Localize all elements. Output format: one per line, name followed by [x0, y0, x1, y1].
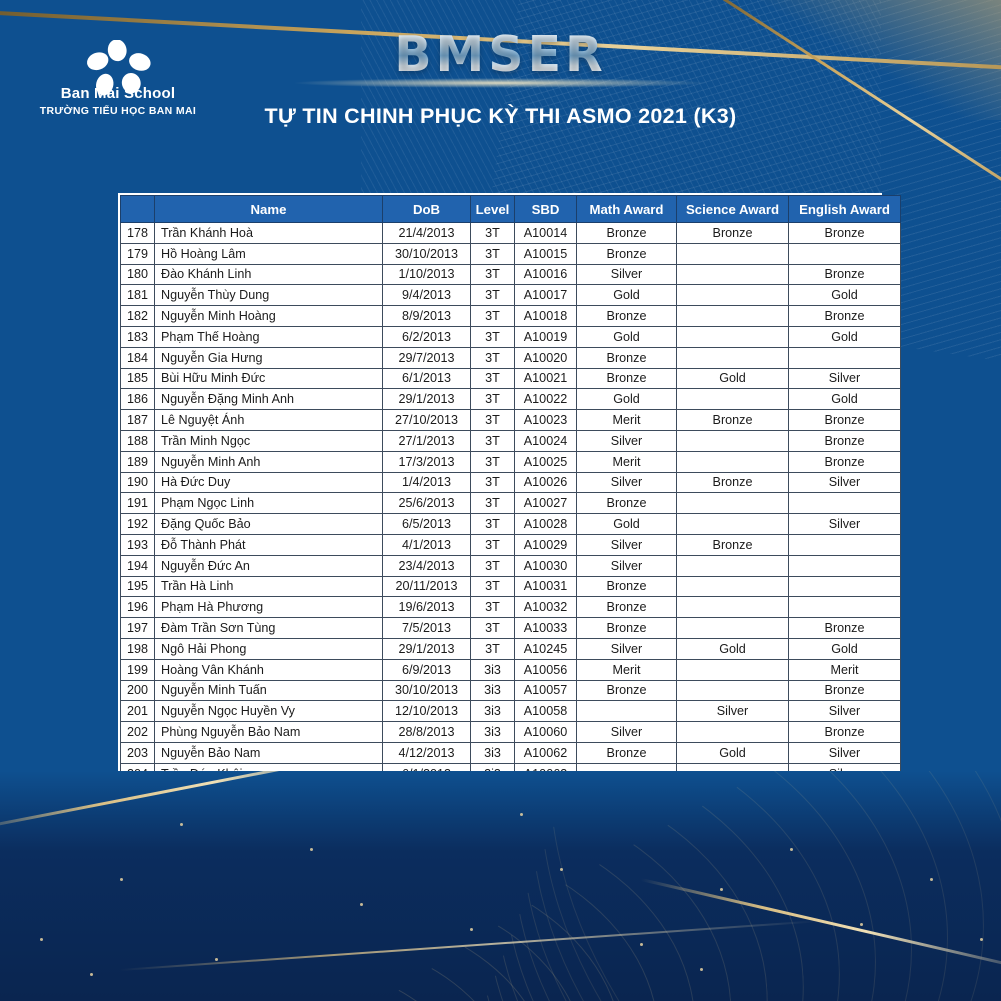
row-index: 190: [121, 472, 155, 493]
row-name: Đào Khánh Linh: [155, 264, 383, 285]
row-name: Nguyễn Minh Hoàng: [155, 306, 383, 327]
row-english-award: [789, 243, 901, 264]
sparkle-dot: [720, 888, 723, 891]
row-level: 3T: [471, 223, 515, 244]
row-english-award: Silver: [789, 742, 901, 763]
row-math-award: Bronze: [577, 347, 677, 368]
row-dob: 1/10/2013: [383, 264, 471, 285]
row-level: 3T: [471, 555, 515, 576]
row-index: 184: [121, 347, 155, 368]
row-level: 3T: [471, 347, 515, 368]
row-level: 3i3: [471, 680, 515, 701]
table-row[interactable]: 203Nguyễn Bảo Nam4/12/20133i3A10062Bronz…: [121, 742, 901, 763]
row-sbd: A10032: [515, 597, 577, 618]
row-english-award: Gold: [789, 285, 901, 306]
row-index: 191: [121, 493, 155, 514]
row-math-award: Silver: [577, 430, 677, 451]
row-sbd: A10024: [515, 430, 577, 451]
table-row[interactable]: 202Phùng Nguyễn Bảo Nam28/8/20133i3A1006…: [121, 722, 901, 743]
row-name: Đỗ Thành Phát: [155, 534, 383, 555]
table-row[interactable]: 183Phạm Thế Hoàng6/2/20133TA10019GoldGol…: [121, 326, 901, 347]
row-english-award: Bronze: [789, 306, 901, 327]
sparkle-dot: [90, 973, 93, 976]
row-level: 3i3: [471, 701, 515, 722]
row-math-award: Bronze: [577, 742, 677, 763]
row-science-award: [677, 659, 789, 680]
row-dob: 12/10/2013: [383, 701, 471, 722]
brand-title: BMSER: [394, 26, 607, 83]
row-index: 187: [121, 410, 155, 431]
row-level: 3T: [471, 389, 515, 410]
row-sbd: A10020: [515, 347, 577, 368]
row-level: 3T: [471, 534, 515, 555]
table-row[interactable]: 178Trần Khánh Hoà21/4/20133TA10014Bronze…: [121, 223, 901, 244]
row-math-award: Bronze: [577, 243, 677, 264]
row-dob: 30/10/2013: [383, 243, 471, 264]
row-science-award: [677, 555, 789, 576]
row-sbd: A10017: [515, 285, 577, 306]
column-header-index[interactable]: [121, 196, 155, 223]
row-sbd: A10056: [515, 659, 577, 680]
row-english-award: Bronze: [789, 430, 901, 451]
table-row[interactable]: 194Nguyễn Đức An23/4/20133TA10030Silver: [121, 555, 901, 576]
row-science-award: Bronze: [677, 410, 789, 431]
sparkle-dot: [640, 943, 643, 946]
row-sbd: A10062: [515, 742, 577, 763]
row-dob: 6/5/2013: [383, 514, 471, 535]
sparkle-dot: [980, 938, 983, 941]
row-math-award: Bronze: [577, 618, 677, 639]
brand-title-wrap: BMSER: [0, 26, 1001, 83]
column-header-math-award[interactable]: Math Award: [577, 196, 677, 223]
row-dob: 19/6/2013: [383, 597, 471, 618]
row-name: Hồ Hoàng Lâm: [155, 243, 383, 264]
table-row[interactable]: 199Hoàng Vân Khánh6/9/20133i3A10056Merit…: [121, 659, 901, 680]
row-name: Trần Minh Ngọc: [155, 430, 383, 451]
table-row[interactable]: 190Hà Đức Duy1/4/20133TA10026SilverBronz…: [121, 472, 901, 493]
row-name: Nguyễn Minh Tuấn: [155, 680, 383, 701]
table-row[interactable]: 201Nguyễn Ngọc Huyền Vy12/10/20133i3A100…: [121, 701, 901, 722]
row-science-award: [677, 306, 789, 327]
row-english-award: [789, 555, 901, 576]
row-english-award: [789, 597, 901, 618]
row-index: 182: [121, 306, 155, 327]
row-level: 3T: [471, 493, 515, 514]
row-sbd: A10027: [515, 493, 577, 514]
row-math-award: Bronze: [577, 576, 677, 597]
row-name: Nguyễn Đức An: [155, 555, 383, 576]
sparkle-dot: [120, 878, 123, 881]
column-header-level[interactable]: Level: [471, 196, 515, 223]
row-name: Nguyễn Ngọc Huyền Vy: [155, 701, 383, 722]
table-row[interactable]: 186Nguyễn Đặng Minh Anh29/1/20133TA10022…: [121, 389, 901, 410]
row-science-award: [677, 430, 789, 451]
column-header-dob[interactable]: DoB: [383, 196, 471, 223]
table-row[interactable]: 181Nguyễn Thùy Dung9/4/20133TA10017GoldG…: [121, 285, 901, 306]
row-index: 199: [121, 659, 155, 680]
row-sbd: A10014: [515, 223, 577, 244]
row-dob: 27/10/2013: [383, 410, 471, 431]
table-row[interactable]: 193Đỗ Thành Phát4/1/20133TA10029SilverBr…: [121, 534, 901, 555]
row-sbd: A10057: [515, 680, 577, 701]
row-level: 3T: [471, 430, 515, 451]
column-header-sbd[interactable]: SBD: [515, 196, 577, 223]
row-english-award: Silver: [789, 472, 901, 493]
row-dob: 1/4/2013: [383, 472, 471, 493]
row-dob: 27/1/2013: [383, 430, 471, 451]
row-name: Phùng Nguyễn Bảo Nam: [155, 722, 383, 743]
row-dob: 6/2/2013: [383, 326, 471, 347]
row-dob: 25/6/2013: [383, 493, 471, 514]
row-dob: 4/12/2013: [383, 742, 471, 763]
row-math-award: Silver: [577, 534, 677, 555]
row-sbd: A10026: [515, 472, 577, 493]
row-level: 3T: [471, 264, 515, 285]
row-index: 203: [121, 742, 155, 763]
row-science-award: [677, 243, 789, 264]
row-math-award: Merit: [577, 451, 677, 472]
row-index: 200: [121, 680, 155, 701]
row-dob: 4/1/2013: [383, 534, 471, 555]
logo-name: Ban Mai School: [28, 86, 208, 101]
table-row[interactable]: 187Lê Nguyệt Ánh27/10/20133TA10023MeritB…: [121, 410, 901, 431]
row-name: Bùi Hữu Minh Đức: [155, 368, 383, 389]
row-level: 3T: [471, 638, 515, 659]
row-english-award: Gold: [789, 326, 901, 347]
row-math-award: Bronze: [577, 368, 677, 389]
row-english-award: Bronze: [789, 223, 901, 244]
row-index: 181: [121, 285, 155, 306]
row-science-award: Silver: [677, 701, 789, 722]
sparkle-dot: [700, 968, 703, 971]
table-row[interactable]: 196Phạm Hà Phương19/6/20133TA10032Bronze: [121, 597, 901, 618]
row-science-award: Gold: [677, 742, 789, 763]
row-name: Nguyễn Bảo Nam: [155, 742, 383, 763]
row-science-award: [677, 514, 789, 535]
row-sbd: A10016: [515, 264, 577, 285]
sparkle-dot: [930, 878, 933, 881]
row-name: Ngô Hải Phong: [155, 638, 383, 659]
row-sbd: A10245: [515, 638, 577, 659]
row-math-award: Bronze: [577, 680, 677, 701]
row-science-award: [677, 597, 789, 618]
row-level: 3T: [471, 576, 515, 597]
row-sbd: A10029: [515, 534, 577, 555]
row-english-award: Bronze: [789, 618, 901, 639]
sparkle-dot: [860, 923, 863, 926]
row-english-award: Bronze: [789, 722, 901, 743]
row-index: 179: [121, 243, 155, 264]
row-sbd: A10023: [515, 410, 577, 431]
row-science-award: [677, 493, 789, 514]
row-dob: 20/11/2013: [383, 576, 471, 597]
table-row[interactable]: 184Nguyễn Gia Hưng29/7/20133TA10020Bronz…: [121, 347, 901, 368]
row-math-award: [577, 701, 677, 722]
row-dob: 29/1/2013: [383, 389, 471, 410]
row-math-award: Silver: [577, 472, 677, 493]
row-index: 189: [121, 451, 155, 472]
row-sbd: A10018: [515, 306, 577, 327]
row-dob: 8/9/2013: [383, 306, 471, 327]
row-math-award: Bronze: [577, 597, 677, 618]
poster-header: Ban Mai School TRƯỜNG TIỂU HỌC BAN MAI B…: [0, 0, 1001, 180]
row-english-award: Gold: [789, 389, 901, 410]
row-sbd: A10030: [515, 555, 577, 576]
table-row[interactable]: 185Bùi Hữu Minh Đức6/1/20133TA10021Bronz…: [121, 368, 901, 389]
row-index: 201: [121, 701, 155, 722]
row-level: 3T: [471, 285, 515, 306]
row-level: 3T: [471, 514, 515, 535]
table-row[interactable]: 182Nguyễn Minh Hoàng8/9/20133TA10018Bron…: [121, 306, 901, 327]
row-index: 202: [121, 722, 155, 743]
row-dob: 17/3/2013: [383, 451, 471, 472]
row-level: 3T: [471, 618, 515, 639]
column-header-science-award[interactable]: Science Award: [677, 196, 789, 223]
table-head: Name DoB Level SBD Math Award Science Aw…: [121, 196, 901, 223]
sparkle-dot: [790, 848, 793, 851]
sparkle-dot: [520, 813, 523, 816]
row-math-award: Bronze: [577, 223, 677, 244]
row-sbd: A10060: [515, 722, 577, 743]
table-row[interactable]: 197Đàm Trần Sơn Tùng7/5/20133TA10033Bron…: [121, 618, 901, 639]
row-math-award: Silver: [577, 555, 677, 576]
row-name: Nguyễn Đặng Minh Anh: [155, 389, 383, 410]
row-index: 178: [121, 223, 155, 244]
row-science-award: [677, 326, 789, 347]
row-science-award: Bronze: [677, 223, 789, 244]
row-level: 3T: [471, 472, 515, 493]
row-name: Lê Nguyệt Ánh: [155, 410, 383, 431]
sparkle-dot: [560, 868, 563, 871]
row-dob: 6/9/2013: [383, 659, 471, 680]
row-level: 3T: [471, 368, 515, 389]
row-sbd: A10021: [515, 368, 577, 389]
poster-subtitle: TỰ TIN CHINH PHỤC KỲ THI ASMO 2021 (K3): [0, 104, 1001, 129]
row-dob: 30/10/2013: [383, 680, 471, 701]
sparkle-dot: [360, 903, 363, 906]
table-row[interactable]: 188Trần Minh Ngọc27/1/20133TA10024Silver…: [121, 430, 901, 451]
row-sbd: A10015: [515, 243, 577, 264]
row-science-award: [677, 451, 789, 472]
row-level: 3i3: [471, 659, 515, 680]
table-row[interactable]: 195Trần Hà Linh20/11/20133TA10031Bronze: [121, 576, 901, 597]
sparkle-dot: [40, 938, 43, 941]
row-name: Nguyễn Thùy Dung: [155, 285, 383, 306]
row-level: 3T: [471, 243, 515, 264]
row-english-award: [789, 347, 901, 368]
bottom-decoration: [0, 771, 1001, 1001]
row-science-award: [677, 722, 789, 743]
row-science-award: Gold: [677, 638, 789, 659]
table-row[interactable]: 189Nguyễn Minh Anh17/3/20133TA10025Merit…: [121, 451, 901, 472]
row-sbd: A10022: [515, 389, 577, 410]
poster-page: Ban Mai School TRƯỜNG TIỂU HỌC BAN MAI B…: [0, 0, 1001, 1001]
row-index: 180: [121, 264, 155, 285]
row-level: 3T: [471, 326, 515, 347]
row-index: 192: [121, 514, 155, 535]
row-index: 197: [121, 618, 155, 639]
row-science-award: [677, 618, 789, 639]
row-sbd: A10058: [515, 701, 577, 722]
table-row[interactable]: 191Phạm Ngọc Linh25/6/20133TA10027Bronze: [121, 493, 901, 514]
sparkle-dot: [470, 928, 473, 931]
row-math-award: Bronze: [577, 306, 677, 327]
sparkle-dot: [310, 848, 313, 851]
row-english-award: Merit: [789, 659, 901, 680]
row-name: Đàm Trần Sơn Tùng: [155, 618, 383, 639]
row-math-award: Merit: [577, 659, 677, 680]
row-name: Phạm Thế Hoàng: [155, 326, 383, 347]
row-name: Phạm Ngọc Linh: [155, 493, 383, 514]
sparkle-dot: [180, 823, 183, 826]
row-sbd: A10028: [515, 514, 577, 535]
table-row[interactable]: 192Đặng Quốc Bảo6/5/20133TA10028GoldSilv…: [121, 514, 901, 535]
row-science-award: [677, 576, 789, 597]
row-index: 196: [121, 597, 155, 618]
row-science-award: Bronze: [677, 472, 789, 493]
row-math-award: Silver: [577, 722, 677, 743]
row-english-award: Gold: [789, 638, 901, 659]
row-math-award: Bronze: [577, 493, 677, 514]
row-english-award: [789, 576, 901, 597]
row-math-award: Merit: [577, 410, 677, 431]
row-index: 183: [121, 326, 155, 347]
row-english-award: Bronze: [789, 410, 901, 431]
row-level: 3i3: [471, 722, 515, 743]
row-name: Đặng Quốc Bảo: [155, 514, 383, 535]
row-index: 186: [121, 389, 155, 410]
row-level: 3T: [471, 451, 515, 472]
row-level: 3T: [471, 410, 515, 431]
row-sbd: A10033: [515, 618, 577, 639]
row-dob: 21/4/2013: [383, 223, 471, 244]
row-name: Phạm Hà Phương: [155, 597, 383, 618]
row-index: 195: [121, 576, 155, 597]
row-dob: 9/4/2013: [383, 285, 471, 306]
row-science-award: Gold: [677, 368, 789, 389]
row-science-award: [677, 264, 789, 285]
row-sbd: A10031: [515, 576, 577, 597]
row-dob: 29/7/2013: [383, 347, 471, 368]
row-sbd: A10025: [515, 451, 577, 472]
row-index: 198: [121, 638, 155, 659]
row-sbd: A10019: [515, 326, 577, 347]
row-math-award: Gold: [577, 514, 677, 535]
row-level: 3T: [471, 306, 515, 327]
row-level: 3T: [471, 597, 515, 618]
row-math-award: Silver: [577, 638, 677, 659]
column-header-name[interactable]: Name: [155, 196, 383, 223]
row-english-award: Bronze: [789, 680, 901, 701]
row-index: 194: [121, 555, 155, 576]
swirl-group-center: [300, 801, 1001, 1001]
row-name: Trần Khánh Hoà: [155, 223, 383, 244]
row-dob: 7/5/2013: [383, 618, 471, 639]
row-english-award: [789, 534, 901, 555]
row-english-award: Silver: [789, 701, 901, 722]
row-english-award: Silver: [789, 368, 901, 389]
row-name: Trần Hà Linh: [155, 576, 383, 597]
row-index: 185: [121, 368, 155, 389]
row-math-award: Silver: [577, 264, 677, 285]
row-science-award: Bronze: [677, 534, 789, 555]
table-row[interactable]: 198Ngô Hải Phong29/1/20133TA10245SilverG…: [121, 638, 901, 659]
row-math-award: Gold: [577, 389, 677, 410]
table-row[interactable]: 179Hồ Hoàng Lâm30/10/20133TA10015Bronze: [121, 243, 901, 264]
row-dob: 6/1/2013: [383, 368, 471, 389]
row-name: Hoàng Vân Khánh: [155, 659, 383, 680]
row-science-award: [677, 389, 789, 410]
table-row[interactable]: 180Đào Khánh Linh1/10/20133TA10016Silver…: [121, 264, 901, 285]
row-english-award: Bronze: [789, 451, 901, 472]
row-english-award: Silver: [789, 514, 901, 535]
row-dob: 29/1/2013: [383, 638, 471, 659]
row-level: 3i3: [471, 742, 515, 763]
row-name: Nguyễn Gia Hưng: [155, 347, 383, 368]
brand-glow: [291, 78, 711, 88]
row-name: Nguyễn Minh Anh: [155, 451, 383, 472]
row-dob: 28/8/2013: [383, 722, 471, 743]
table-header-row: Name DoB Level SBD Math Award Science Aw…: [121, 196, 901, 223]
row-name: Hà Đức Duy: [155, 472, 383, 493]
row-dob: 23/4/2013: [383, 555, 471, 576]
sparkle-dot: [215, 958, 218, 961]
row-math-award: Gold: [577, 285, 677, 306]
row-index: 193: [121, 534, 155, 555]
row-science-award: [677, 347, 789, 368]
row-index: 188: [121, 430, 155, 451]
row-math-award: Gold: [577, 326, 677, 347]
row-science-award: [677, 680, 789, 701]
row-english-award: [789, 493, 901, 514]
row-english-award: Bronze: [789, 264, 901, 285]
row-science-award: [677, 285, 789, 306]
table-row[interactable]: 200Nguyễn Minh Tuấn30/10/20133i3A10057Br…: [121, 680, 901, 701]
column-header-english-award[interactable]: English Award: [789, 196, 901, 223]
